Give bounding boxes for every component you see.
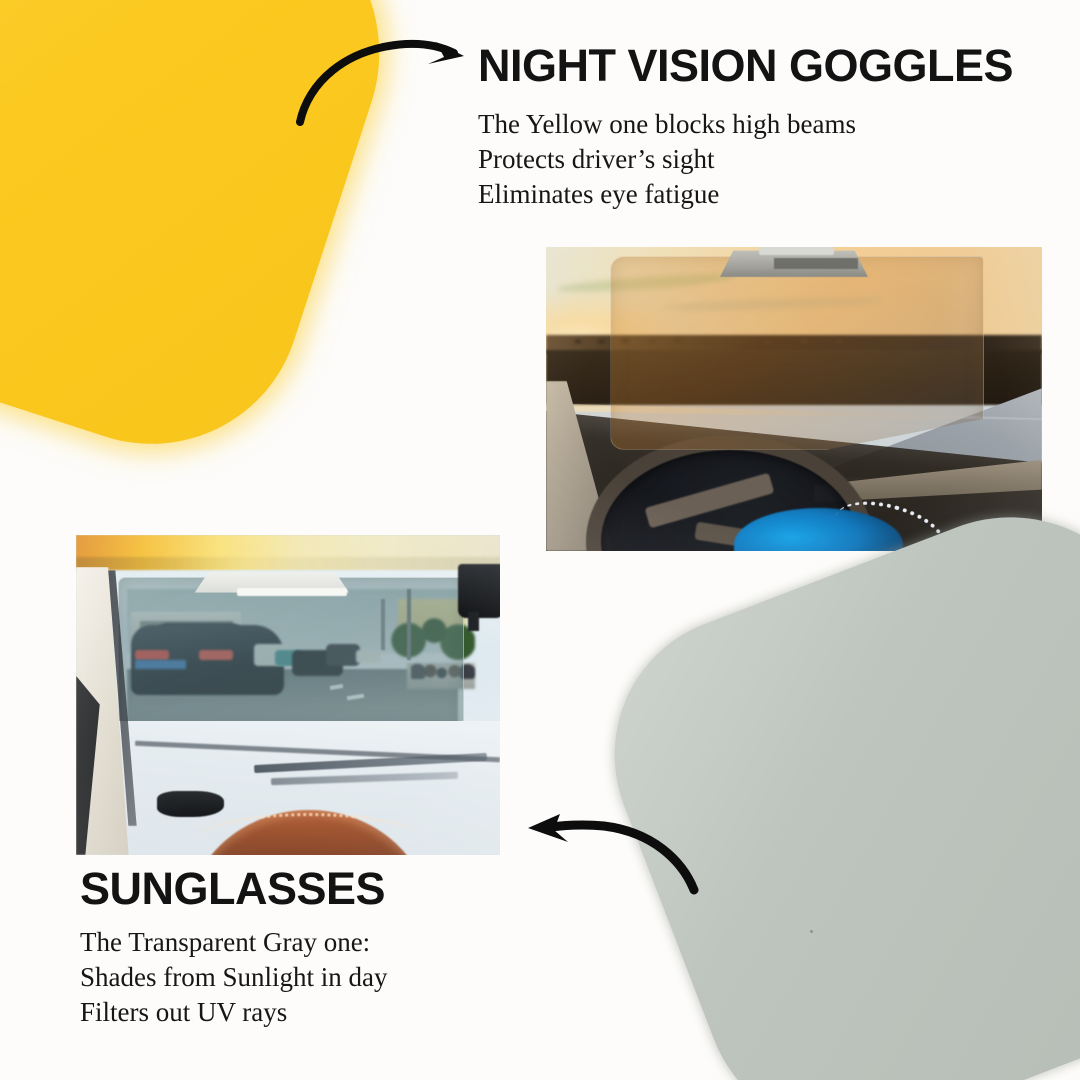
photo-softness-overlay: [76, 535, 500, 855]
sunglasses-copy-line-2: Shades from Sunlight in day: [80, 960, 520, 995]
sunglasses-copy: The Transparent Gray one: Shades from Su…: [80, 925, 520, 1030]
sunglasses-copy-line-3: Filters out UV rays: [80, 995, 520, 1030]
night-driving-photo: [546, 247, 1042, 551]
night-vision-copy: The Yellow one blocks high beams Protect…: [478, 107, 1018, 212]
night-vision-headline: NIGHT VISION GOGGLES: [478, 43, 1013, 88]
gray-visor-lens: [574, 474, 1080, 1080]
arrow-pointing-to-day-photo: [512, 798, 712, 908]
day-driving-photo: [76, 535, 500, 855]
yellow-visor-lens: [0, 0, 421, 483]
sunglasses-headline: SUNGLASSES: [80, 866, 385, 911]
night-vision-copy-line-1: The Yellow one blocks high beams: [478, 107, 1018, 142]
gray-lens-speck: [810, 930, 813, 933]
product-infographic-canvas: NIGHT VISION GOGGLES The Yellow one bloc…: [0, 0, 1080, 1080]
photo-softness-overlay: [546, 247, 1042, 551]
night-vision-copy-line-3: Eliminates eye fatigue: [478, 177, 1018, 212]
arrow-pointing-to-night-vision-headline: [286, 26, 486, 136]
sunglasses-copy-line-1: The Transparent Gray one:: [80, 925, 520, 960]
night-vision-copy-line-2: Protects driver’s sight: [478, 142, 1018, 177]
